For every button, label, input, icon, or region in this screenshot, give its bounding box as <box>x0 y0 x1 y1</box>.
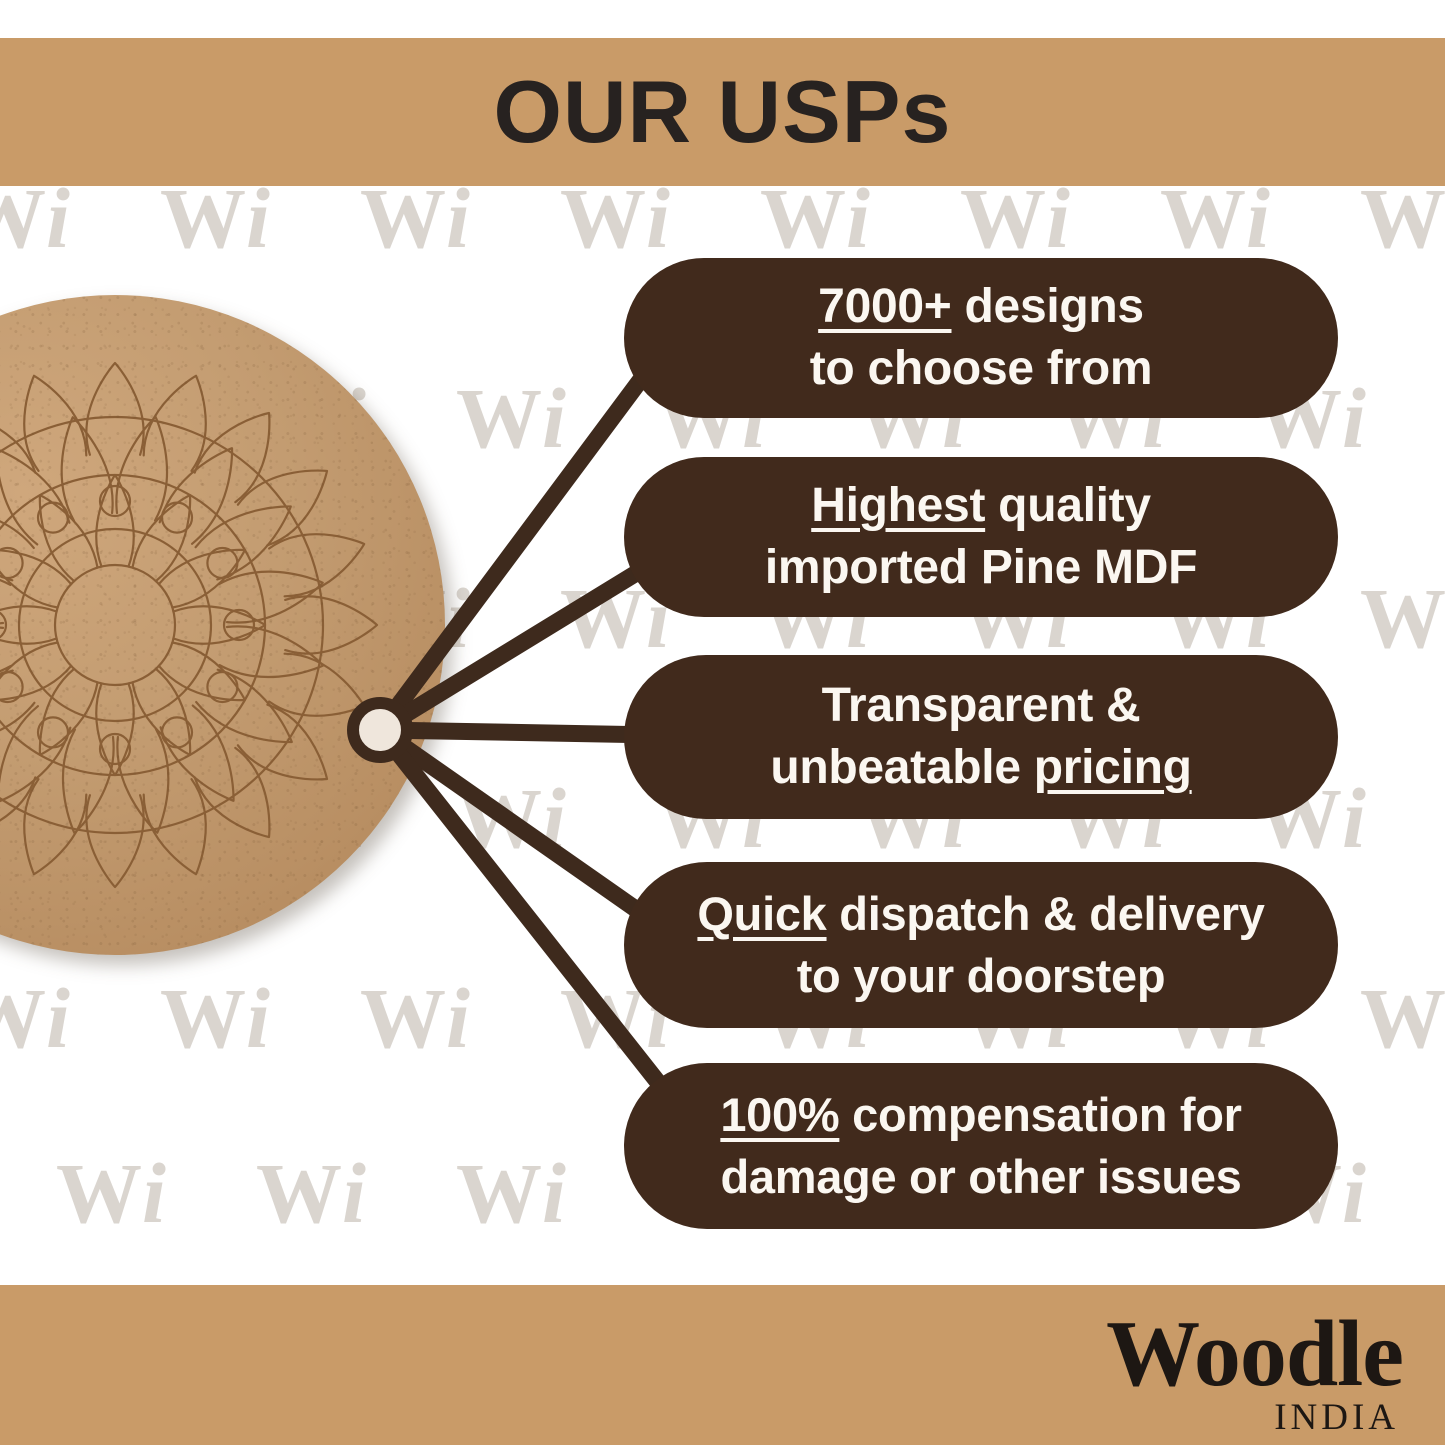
wi-watermark: Wi <box>256 1150 366 1236</box>
wi-watermark: Wi <box>456 1150 566 1236</box>
wi-watermark: Wi <box>0 175 70 261</box>
mandala-engraving <box>0 295 445 955</box>
usp-1-highlight: 7000+ <box>818 280 951 333</box>
usp-1-line2: to choose from <box>810 342 1153 395</box>
usp-3-line2-pre: unbeatable <box>770 741 1033 794</box>
wi-watermark: Wi <box>1360 575 1445 661</box>
usp-4-line1-post: dispatch & delivery <box>827 887 1265 940</box>
usp-pill-compensation[interactable]: 100% compensation for damage or other is… <box>624 1063 1338 1229</box>
usp-5-line1-post: compensation for <box>839 1088 1241 1141</box>
usp-2-line2: imported Pine MDF <box>765 541 1197 594</box>
usp-infographic-canvas: WiWiWiWiWiWiWiWiWiWiWiWiWiWiWiWiWiWiWiWi… <box>0 0 1445 1445</box>
wi-watermark: Wi <box>560 175 670 261</box>
usp-4-line2: to your doorstep <box>797 949 1166 1002</box>
usp-5-highlight: 100% <box>720 1088 839 1141</box>
wi-watermark: Wi <box>1360 975 1445 1061</box>
usp-2-highlight: Highest <box>811 479 985 532</box>
usp-3-highlight: pricing <box>1034 741 1192 794</box>
usp-5-line2: damage or other issues <box>720 1150 1241 1203</box>
wi-watermark: Wi <box>360 175 470 261</box>
wi-watermark: Wi <box>456 775 566 861</box>
usp-pill-material-quality[interactable]: Highest quality imported Pine MDF <box>624 457 1338 617</box>
product-image-mandala-disc <box>0 295 445 955</box>
wi-watermark: Wi <box>1160 175 1270 261</box>
usp-3-line1: Transparent & <box>822 679 1141 732</box>
wi-watermark: Wi <box>456 375 566 461</box>
wi-watermark: Wi <box>0 975 70 1061</box>
brand-name: Woodle <box>1106 1306 1403 1402</box>
wi-watermark: Wi <box>960 175 1070 261</box>
brand-logo: Woodle INDIA <box>1106 1306 1403 1438</box>
mdf-round-disc <box>0 295 445 955</box>
usp-4-highlight: Quick <box>697 887 826 940</box>
wi-watermark: Wi <box>1360 175 1445 261</box>
page-title: OUR USPs <box>0 53 1445 171</box>
hub-node <box>347 697 413 763</box>
wi-watermark: Wi <box>360 975 470 1061</box>
wi-watermark: Wi <box>56 1150 166 1236</box>
usp-pill-dispatch-delivery[interactable]: Quick dispatch & delivery to your doorst… <box>624 862 1338 1028</box>
wi-watermark: Wi <box>160 975 270 1061</box>
wi-watermark: Wi <box>760 175 870 261</box>
wi-watermark: Wi <box>160 175 270 261</box>
usp-pill-designs-count[interactable]: 7000+ designs to choose from <box>624 258 1338 418</box>
usp-2-line1-post: quality <box>985 479 1151 532</box>
usp-pill-pricing[interactable]: Transparent & unbeatable pricing <box>624 655 1338 819</box>
usp-1-line1-post: designs <box>952 280 1144 333</box>
